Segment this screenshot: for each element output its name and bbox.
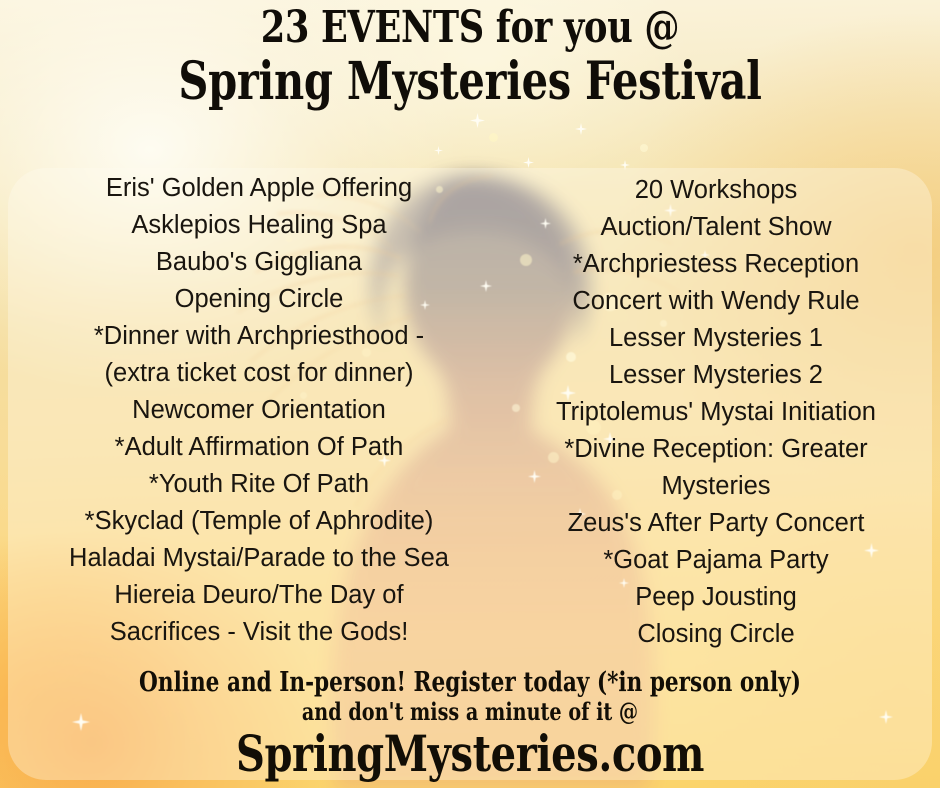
event-item: (extra ticket cost for dinner) (18, 355, 500, 392)
event-item: Lesser Mysteries 1 (500, 320, 932, 357)
event-item: Auction/Talent Show (500, 209, 932, 246)
footer-line-register: Online and In-person! Register today (*i… (94, 668, 846, 698)
footer-website-link[interactable]: SpringMysteries.com (94, 727, 846, 781)
event-item: Triptolemus' Mystai Initiation (500, 394, 932, 431)
event-item: *Adult Affirmation Of Path (18, 429, 500, 466)
event-item: *Archpriestess Reception (500, 246, 932, 283)
event-item: Concert with Wendy Rule (500, 283, 932, 320)
event-item: Closing Circle (500, 616, 932, 653)
event-item: Opening Circle (18, 281, 500, 318)
event-column-right: 20 Workshops Auction/Talent Show *Archpr… (500, 168, 932, 653)
event-item: 20 Workshops (500, 172, 932, 209)
event-columns: Eris' Golden Apple Offering Asklepios He… (8, 168, 932, 653)
footer-callout: Online and In-person! Register today (*i… (0, 668, 940, 781)
event-item: Haladai Mystai/Parade to the Sea (18, 540, 500, 577)
footer-line-tagline: and don't miss a minute of it @ (94, 698, 846, 725)
event-item: Peep Jousting (500, 579, 932, 616)
event-item: Sacrifices - Visit the Gods! (18, 614, 500, 651)
event-item: Baubo's Giggliana (18, 244, 500, 281)
event-item: *Divine Reception: Greater (500, 431, 932, 468)
event-item: *Dinner with Archpriesthood - (18, 318, 500, 355)
event-item: *Goat Pajama Party (500, 542, 932, 579)
event-item: Hiereia Deuro/The Day of (18, 577, 500, 614)
page-title: 23 EVENTS for you @ Spring Mysteries Fes… (0, 6, 940, 108)
poster: 23 EVENTS for you @ Spring Mysteries Fes… (0, 0, 940, 788)
event-item: Zeus's After Party Concert (500, 505, 932, 542)
headline-line-2: Spring Mysteries Festival (94, 55, 846, 108)
headline-line-1: 23 EVENTS for you @ (94, 6, 846, 51)
event-item: Eris' Golden Apple Offering (18, 170, 500, 207)
event-item: Mysteries (500, 468, 932, 505)
event-item: Lesser Mysteries 2 (500, 357, 932, 394)
event-item: Newcomer Orientation (18, 392, 500, 429)
event-item: *Youth Rite Of Path (18, 466, 500, 503)
event-item: *Skyclad (Temple of Aphrodite) (18, 503, 500, 540)
event-item: Asklepios Healing Spa (18, 207, 500, 244)
event-column-left: Eris' Golden Apple Offering Asklepios He… (8, 168, 500, 653)
